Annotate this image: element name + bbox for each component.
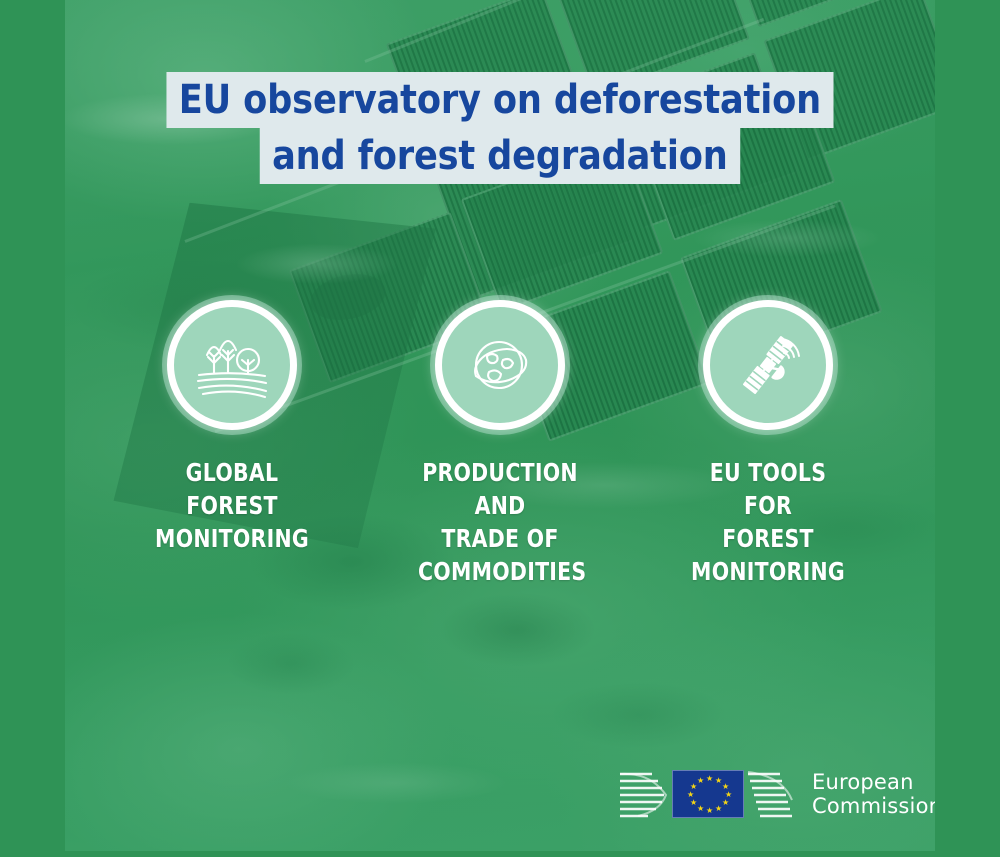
logo-text: European Commission — [812, 770, 935, 818]
logo-wing-left-icon — [618, 762, 670, 826]
feature-item-global-forest-monitoring[interactable]: GLOBAL FOREST MONITORING — [132, 300, 332, 588]
feature-label-line-1: GLOBAL FOREST — [150, 456, 314, 522]
forest-landscape-icon — [194, 329, 270, 401]
feature-icon-badge[interactable] — [167, 300, 297, 430]
logo-text-line-1: European — [812, 770, 935, 794]
feature-item-production-and-trade[interactable]: PRODUCTION AND TRADE OF COMMODITIES — [400, 300, 600, 588]
logo-wing-right-icon — [746, 762, 798, 826]
satellite-background-image: EU observatory on deforestation and fore… — [65, 0, 935, 851]
feature-list: GLOBAL FOREST MONITORING — [65, 300, 935, 588]
page-title: EU observatory on deforestation and fore… — [65, 72, 935, 184]
feature-label: PRODUCTION AND TRADE OF COMMODITIES — [418, 456, 582, 588]
feature-label-line-2: TRADE OF — [418, 522, 582, 555]
globe-orbit-icon — [462, 329, 538, 401]
poster-root: EU observatory on deforestation and fore… — [0, 0, 1000, 857]
feature-label-line-3: COMMODITIES — [418, 555, 582, 588]
feature-icon-badge[interactable] — [703, 300, 833, 430]
feature-label-line-3: MONITORING — [686, 555, 850, 588]
feature-label-line-2: MONITORING — [150, 522, 314, 555]
satellite-signal-icon — [730, 329, 806, 401]
eu-flag-icon: ★ ★ ★ ★ ★ ★ ★ ★ ★ ★ ★ ★ — [672, 770, 744, 818]
title-line-2: and forest degradation — [260, 128, 740, 184]
feature-label-line-1: PRODUCTION AND — [418, 456, 582, 522]
european-commission-logo: ★ ★ ★ ★ ★ ★ ★ ★ ★ ★ ★ ★ — [618, 755, 935, 833]
feature-icon-badge[interactable] — [435, 300, 565, 430]
feature-label: EU TOOLS FOR FOREST MONITORING — [686, 456, 850, 588]
feature-item-eu-tools[interactable]: EU TOOLS FOR FOREST MONITORING — [668, 300, 868, 588]
title-line-1: EU observatory on deforestation — [167, 72, 834, 128]
logo-text-line-2: Commission — [812, 794, 935, 818]
feature-label-line-1: EU TOOLS FOR — [686, 456, 850, 522]
feature-label-line-2: FOREST — [686, 522, 850, 555]
feature-label: GLOBAL FOREST MONITORING — [150, 456, 314, 555]
